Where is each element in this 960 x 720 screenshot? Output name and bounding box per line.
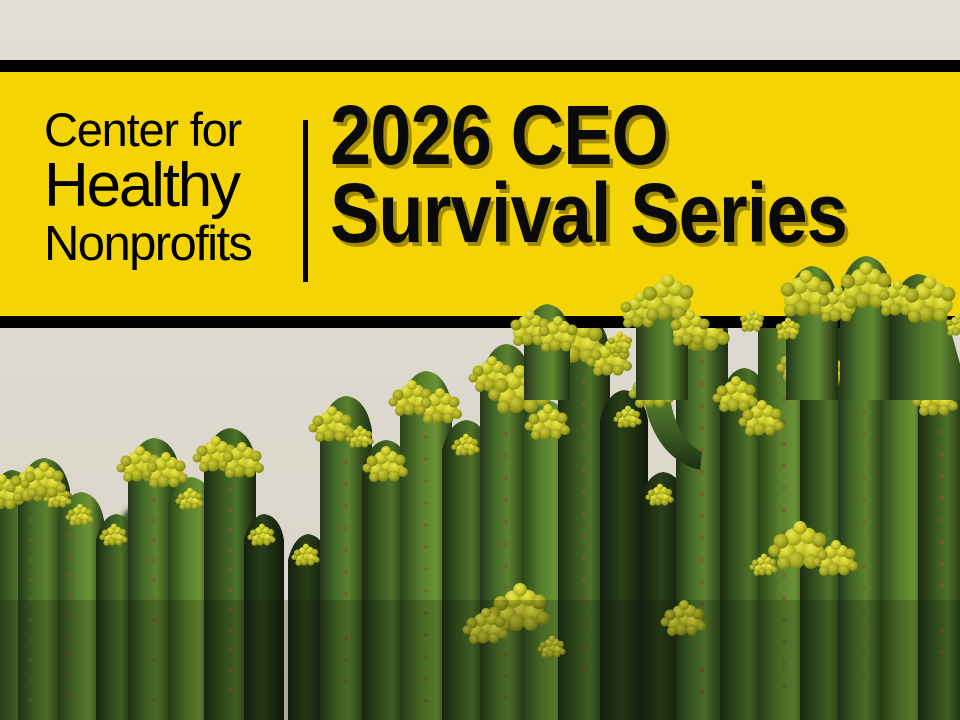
yellow-title-banner: Center for Healthy Nonprofits 2026 CEO S… [0,60,960,328]
promo-banner-graphic: Center for Healthy Nonprofits 2026 CEO S… [0,0,960,720]
event-title-line-1: 2026 CEO [330,94,847,176]
logo-line-healthy: Healthy [44,155,292,217]
organization-logo: Center for Healthy Nonprofits [44,106,292,269]
logo-line-nonprofits: Nonprofits [44,220,292,269]
event-title: 2026 CEO Survival Series [330,94,847,255]
event-title-line-2: Survival Series [330,172,847,254]
logo-line-center-for: Center for [44,106,292,153]
logo-divider-rule [303,120,308,282]
